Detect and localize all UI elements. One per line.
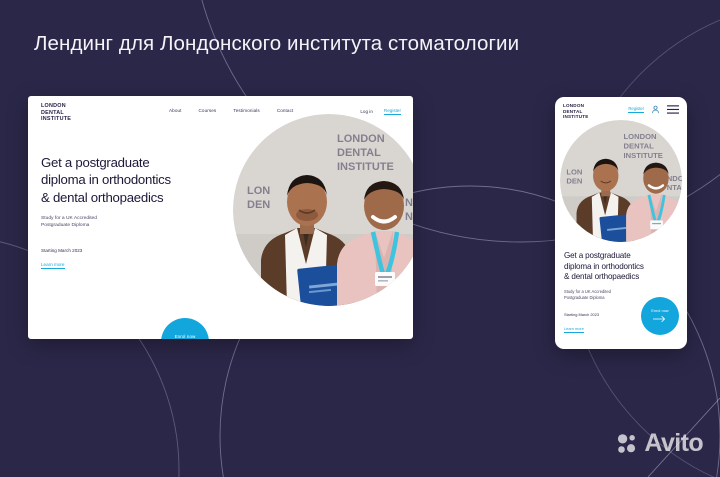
mobile-site-header: LONDON DENTAL INSTITUTE Register [555, 97, 687, 119]
logo-line-3: INSTITUTE [41, 116, 71, 123]
mobile-register-link[interactable]: Register [628, 106, 644, 113]
desktop-auth-group: Log in Register [360, 108, 401, 115]
desktop-hero-subtitle: Study for a UK Accredited Postgraduate D… [41, 215, 256, 229]
mobile-learn-more-link[interactable]: Learn more [564, 326, 584, 333]
user-icon[interactable] [651, 105, 660, 114]
nav-item-courses[interactable]: Courses [199, 108, 217, 113]
mobile-hero-photo: LONDON DENTAL INSTITUTE LON DEN NDO NTA [560, 120, 682, 242]
desktop-site-header: LONDON DENTAL INSTITUTE About Courses Te… [28, 96, 413, 128]
svg-text:DEN: DEN [566, 177, 582, 186]
svg-text:LONDON: LONDON [624, 132, 657, 141]
subtitle-line-1: Study for a UK Accredited [41, 215, 256, 222]
mobile-heading-line-1: Get a postgraduate [564, 251, 680, 262]
avito-watermark: Avito [616, 431, 703, 456]
desktop-start-date: Starting March 2023 [41, 248, 256, 253]
desktop-hero-copy: Get a postgraduate diploma in orthodonti… [41, 154, 256, 271]
login-link[interactable]: Log in [360, 109, 373, 114]
logo-line-1: LONDON [41, 103, 71, 110]
desktop-logo[interactable]: LONDON DENTAL INSTITUTE [41, 103, 71, 123]
desktop-enrol-label: Enrol now [175, 334, 196, 339]
mobile-enrol-now-button[interactable]: Enrol now [641, 297, 679, 335]
desktop-hero-heading: Get a postgraduate diploma in orthodonti… [41, 154, 256, 206]
avito-dots-icon [616, 433, 638, 455]
desktop-main-nav: About Courses Testimonials Contact [169, 108, 293, 113]
logo-line-2: DENTAL [41, 110, 71, 117]
mobile-logo-line-3: INSTITUTE [563, 114, 589, 120]
svg-text:DENTAL: DENTAL [624, 142, 655, 151]
svg-text:NTA: NTA [405, 211, 413, 223]
desktop-hero-photo: LONDON DENTAL INSTITUTE LON DEN NDO NTA [233, 114, 413, 306]
mobile-enrol-label: Enrol now [651, 309, 668, 313]
nav-item-contact[interactable]: Contact [277, 108, 294, 113]
svg-text:INSTITUTE: INSTITUTE [337, 161, 394, 173]
mobile-logo[interactable]: LONDON DENTAL INSTITUTE [563, 103, 589, 120]
heading-line-2: diploma in orthodontics [41, 171, 256, 188]
nav-item-about[interactable]: About [169, 108, 182, 113]
svg-text:NTA: NTA [667, 183, 682, 192]
mobile-mockup-frame: LONDON DENTAL INSTITUTE Register [555, 97, 687, 349]
subtitle-line-2: Postgraduate Diploma [41, 222, 256, 229]
svg-text:INSTITUTE: INSTITUTE [624, 151, 663, 160]
mobile-heading-line-3: & dental orthopaedics [564, 272, 680, 283]
page-title: Лендинг для Лондонского института стомат… [34, 30, 519, 58]
svg-text:LON: LON [566, 168, 582, 177]
desktop-mockup-card: LONDON DENTAL INSTITUTE About Courses Te… [28, 96, 413, 339]
mobile-header-actions: Register [628, 105, 679, 114]
mobile-heading-line-2: diploma in orthodontics [564, 262, 680, 273]
avito-wordmark: Avito [644, 431, 703, 456]
heading-line-1: Get a postgraduate [41, 154, 256, 171]
desktop-learn-more-link[interactable]: Learn more [41, 262, 65, 269]
svg-text:LONDON: LONDON [337, 133, 385, 145]
mobile-hero-heading: Get a postgraduate diploma in orthodonti… [564, 251, 680, 283]
svg-text:NDO: NDO [405, 197, 413, 209]
hamburger-menu-icon[interactable] [667, 105, 679, 114]
heading-line-3: & dental orthopaedics [41, 189, 256, 206]
svg-text:DENTAL: DENTAL [337, 147, 381, 159]
desktop-enrol-now-button[interactable]: Enrol now [161, 318, 209, 339]
register-link[interactable]: Register [384, 108, 401, 115]
svg-text:NDO: NDO [667, 174, 682, 183]
arrow-right-icon [653, 315, 667, 323]
slide-canvas: Лендинг для Лондонского института стомат… [0, 0, 720, 477]
nav-item-testimonials[interactable]: Testimonials [233, 108, 259, 113]
